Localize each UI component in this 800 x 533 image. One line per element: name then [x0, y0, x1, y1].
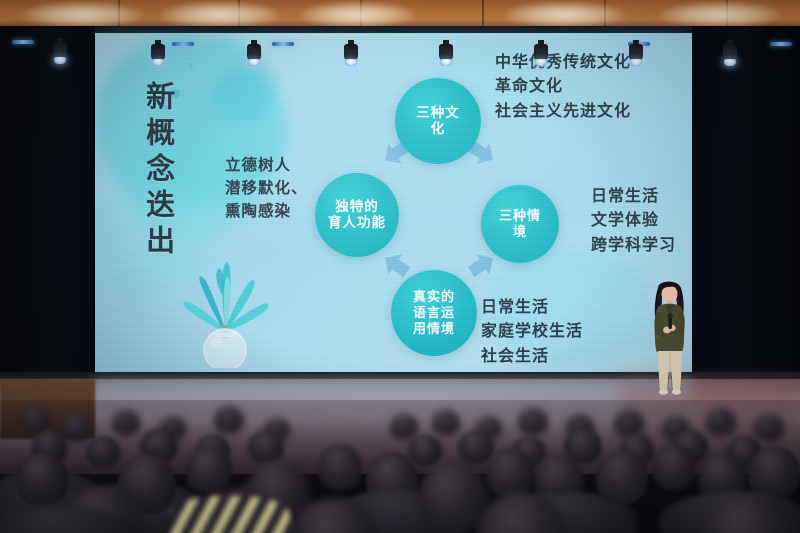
circle-center: 独特的 育人功能	[315, 173, 399, 257]
ceiling-light	[300, 2, 415, 28]
circle-bottom: 真实的 语言运 用情境	[391, 270, 477, 356]
ceiling-wood-panels	[0, 0, 800, 28]
audience-head	[214, 406, 244, 434]
rail-led	[172, 42, 194, 46]
stage-spotlight	[628, 44, 644, 70]
rail-led	[272, 42, 294, 46]
ceiling-light	[660, 2, 780, 28]
ceiling-light	[160, 2, 280, 28]
description-bottom: 日常生活 家庭学校生活 社会生活	[481, 296, 583, 369]
stage-spotlight	[52, 42, 68, 68]
stage-curtain-right	[692, 26, 800, 386]
auditorium-scene: 新概念迭出 立德树人 潜移默化、 熏陶感染	[0, 0, 800, 533]
audience-head	[62, 414, 92, 442]
splash-dot	[189, 63, 193, 67]
stage-spotlight	[533, 44, 549, 70]
audience-head	[652, 444, 696, 490]
stage-spotlight	[438, 44, 454, 70]
ceiling-light	[505, 2, 625, 28]
audience-head	[186, 446, 232, 494]
rail-led	[770, 42, 792, 46]
stage-spotlight	[246, 44, 262, 70]
audience-head	[706, 408, 736, 436]
audience-head	[596, 450, 648, 504]
stage-spotlight	[150, 44, 166, 70]
description-top: 中华优秀传统文化 革命文化 社会主义先进文化	[495, 51, 631, 124]
audience-striped-shirt	[170, 496, 290, 533]
stage-spotlight	[722, 44, 738, 70]
ceiling-light	[22, 2, 142, 28]
stage-spotlight	[343, 44, 359, 70]
potted-plant-watercolor-icon	[165, 233, 285, 368]
audience-head	[408, 434, 442, 466]
audience-head	[248, 430, 284, 464]
watercolor-splash	[211, 71, 271, 123]
stage-curtain-left	[0, 26, 95, 386]
rail-led	[12, 40, 34, 44]
audience-head	[390, 414, 418, 440]
audience-head	[16, 452, 68, 506]
presenter-speaker	[640, 278, 700, 400]
led-presentation-screen: 新概念迭出 立德树人 潜移默化、 熏陶感染	[93, 33, 692, 379]
circle-right: 三种情 境	[481, 185, 559, 263]
description-right: 日常生活 文学体验 跨学科学习	[591, 185, 676, 258]
audience-head	[754, 414, 784, 442]
audience-head	[86, 436, 120, 468]
audience-head	[518, 408, 548, 436]
seated-audience	[0, 400, 800, 533]
slide-left-text: 立德树人 潜移默化、 熏陶感染	[225, 155, 308, 223]
audience-head	[112, 410, 140, 436]
audience-head	[432, 410, 460, 436]
audience-head	[486, 448, 534, 498]
circle-top: 三种文 化	[395, 78, 481, 164]
audience-head	[318, 444, 362, 490]
